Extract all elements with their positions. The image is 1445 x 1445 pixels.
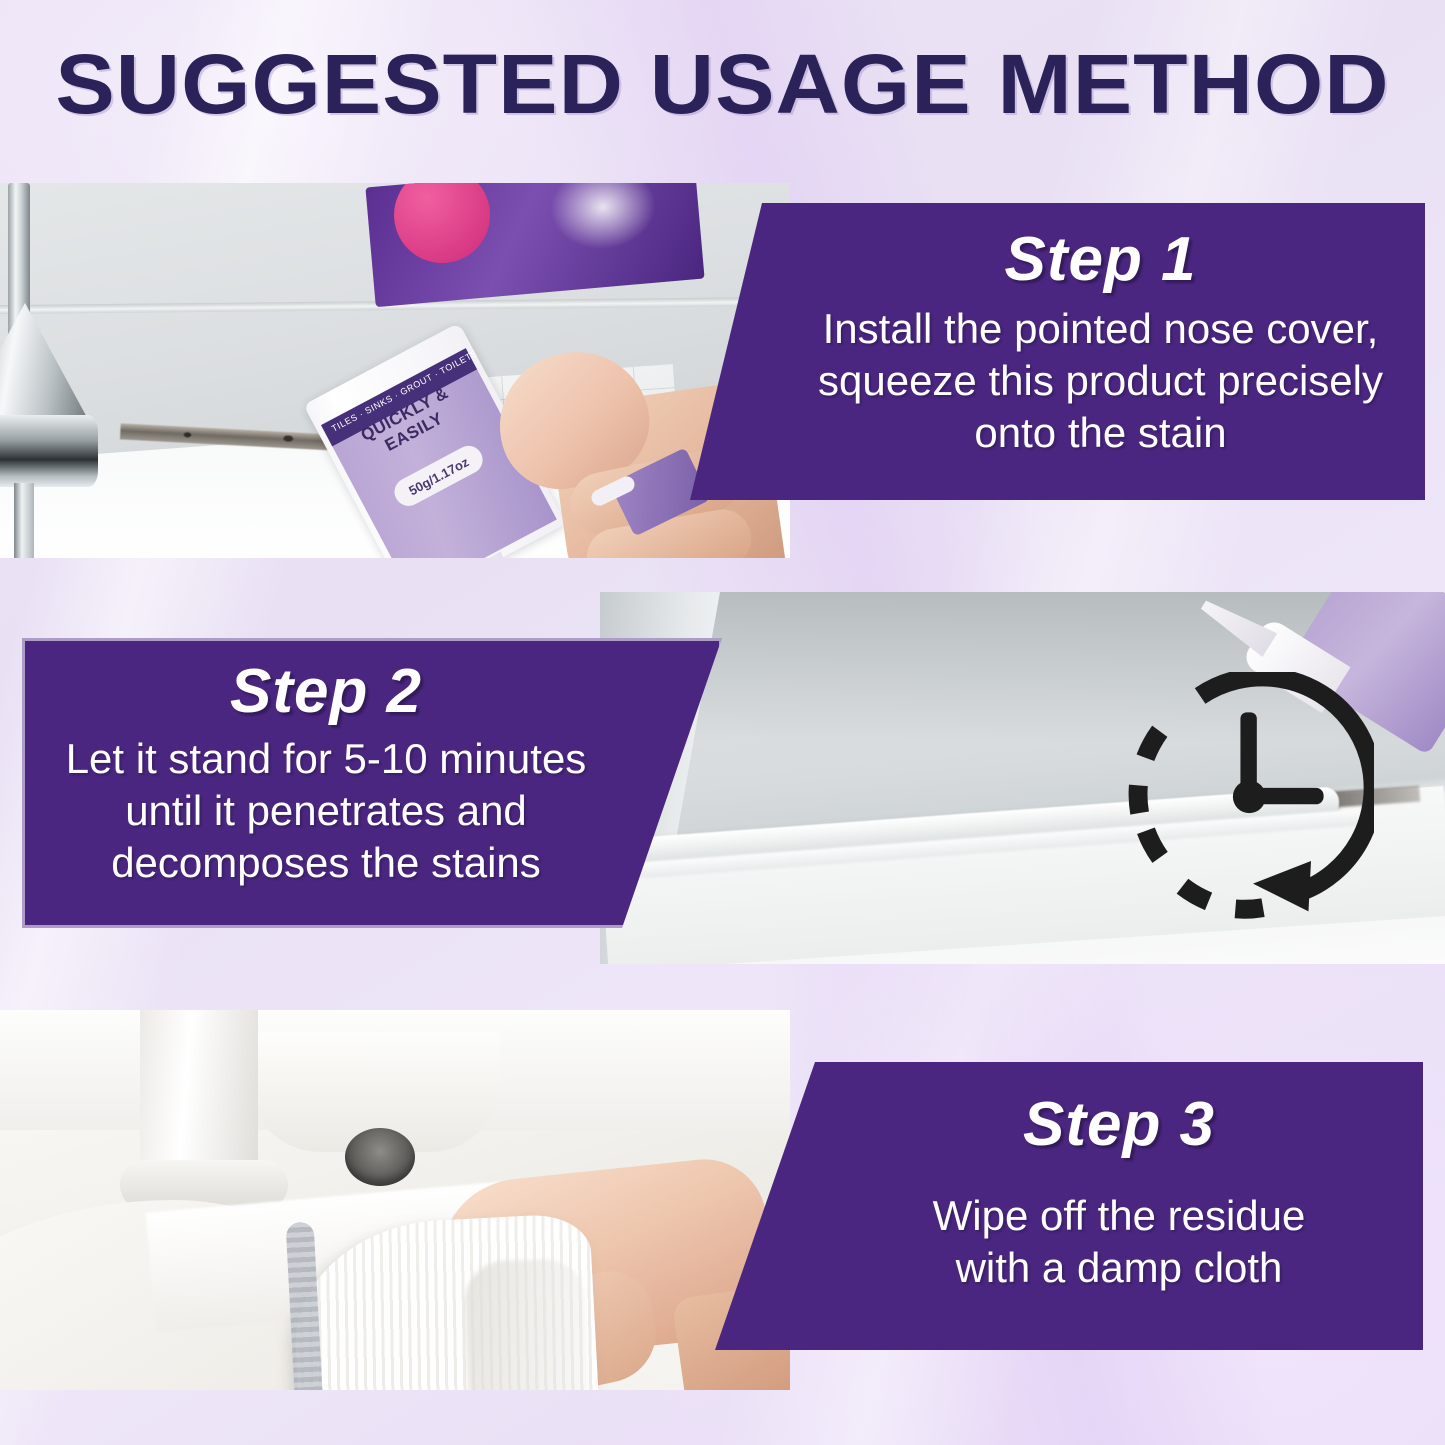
poster-root: SUGGESTED USAGE METHOD TILES · SINKS · G… <box>0 0 1445 1445</box>
step-3-heading: Step 3 <box>845 1090 1393 1160</box>
step-1-description: Install the pointed nose cover, squeeze … <box>810 303 1391 459</box>
step-1-panel: Step 1 Install the pointed nose cover, s… <box>690 203 1425 500</box>
package-light-burst <box>523 183 683 273</box>
tube-weight-pill: 1.17oz <box>1429 592 1445 630</box>
page-title: SUGGESTED USAGE METHOD <box>0 38 1445 130</box>
step-3-description: Wipe off the residue with a damp cloth <box>845 1190 1393 1294</box>
step-1-photo: TILES · SINKS · GROUT · TOILETS · WINDOW… <box>0 183 790 558</box>
step-2-panel: Step 2 Let it stand for 5-10 minutes unt… <box>22 638 722 928</box>
faucet-column <box>140 1010 258 1172</box>
step-2-heading: Step 2 <box>53 657 599 727</box>
faucet-lower-stem <box>14 483 34 558</box>
step-1-heading: Step 1 <box>810 225 1391 295</box>
faucet-cap <box>0 415 98 487</box>
cloth-fold-shadow <box>464 1258 596 1390</box>
package-pink-badge <box>390 183 494 267</box>
step-3-photo <box>0 1010 790 1390</box>
sink-drain <box>345 1128 415 1186</box>
clock-timer-icon <box>1122 672 1374 924</box>
step-3-panel: Step 3 Wipe off the residue with a damp … <box>715 1062 1423 1350</box>
step-2-description: Let it stand for 5-10 minutes until it p… <box>53 733 599 889</box>
